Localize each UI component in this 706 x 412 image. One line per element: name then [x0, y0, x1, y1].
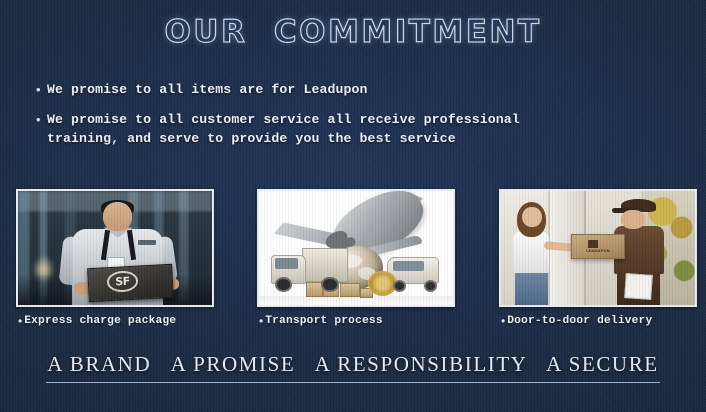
- photo-caption-door-to-door-delivery: • Door-to-door delivery: [501, 314, 652, 328]
- leadupon-box-logo: LEADUPON: [579, 249, 618, 253]
- bullet-icon: •: [36, 80, 47, 99]
- photo-caption-transport-process: • Transport process: [259, 314, 383, 328]
- caption-text: Door-to-door delivery: [507, 315, 652, 327]
- promise-text: We promise to all customer service all r…: [47, 110, 520, 148]
- doorstep-package-handover-photo: LEADUPON: [501, 191, 695, 305]
- bullet-icon: •: [36, 110, 47, 129]
- bullet-icon: •: [259, 314, 263, 328]
- page-title-wrapper: OUR COMMITMENT: [0, 14, 706, 50]
- courier-holding-sf-box-photo: SF: [18, 191, 212, 305]
- photo-frame: [257, 189, 455, 307]
- photo-caption-express-charge-package: • Express charge package: [18, 314, 176, 328]
- photo-frame: LEADUPON: [499, 189, 697, 307]
- promise-list: • We promise to all items are for Leadup…: [36, 80, 676, 159]
- photo-frame: SF: [16, 189, 214, 307]
- footer-tagline: A BRAND A PROMISE A RESPONSIBILITY A SEC…: [47, 352, 658, 376]
- caption-text: Transport process: [265, 315, 383, 327]
- bullet-icon: •: [501, 314, 505, 328]
- footer-tagline-wrapper: A BRAND A PROMISE A RESPONSIBILITY A SEC…: [46, 352, 660, 383]
- promise-text: We promise to all items are for Leadupon: [47, 80, 368, 99]
- photo-card-express-charge-package: SF: [16, 189, 214, 307]
- commitment-banner: OUR COMMITMENT • We promise to all items…: [0, 0, 706, 412]
- photo-card-transport-process: [257, 189, 455, 307]
- page-title: OUR COMMITMENT: [164, 14, 541, 50]
- air-road-transport-montage-photo: [259, 191, 453, 305]
- caption-text: Express charge package: [24, 315, 176, 327]
- list-item: • We promise to all items are for Leadup…: [36, 80, 676, 99]
- photo-card-row: SF: [0, 189, 706, 309]
- photo-card-door-to-door-delivery: LEADUPON: [499, 189, 697, 307]
- bullet-icon: •: [18, 314, 22, 328]
- list-item: • We promise to all customer service all…: [36, 110, 676, 148]
